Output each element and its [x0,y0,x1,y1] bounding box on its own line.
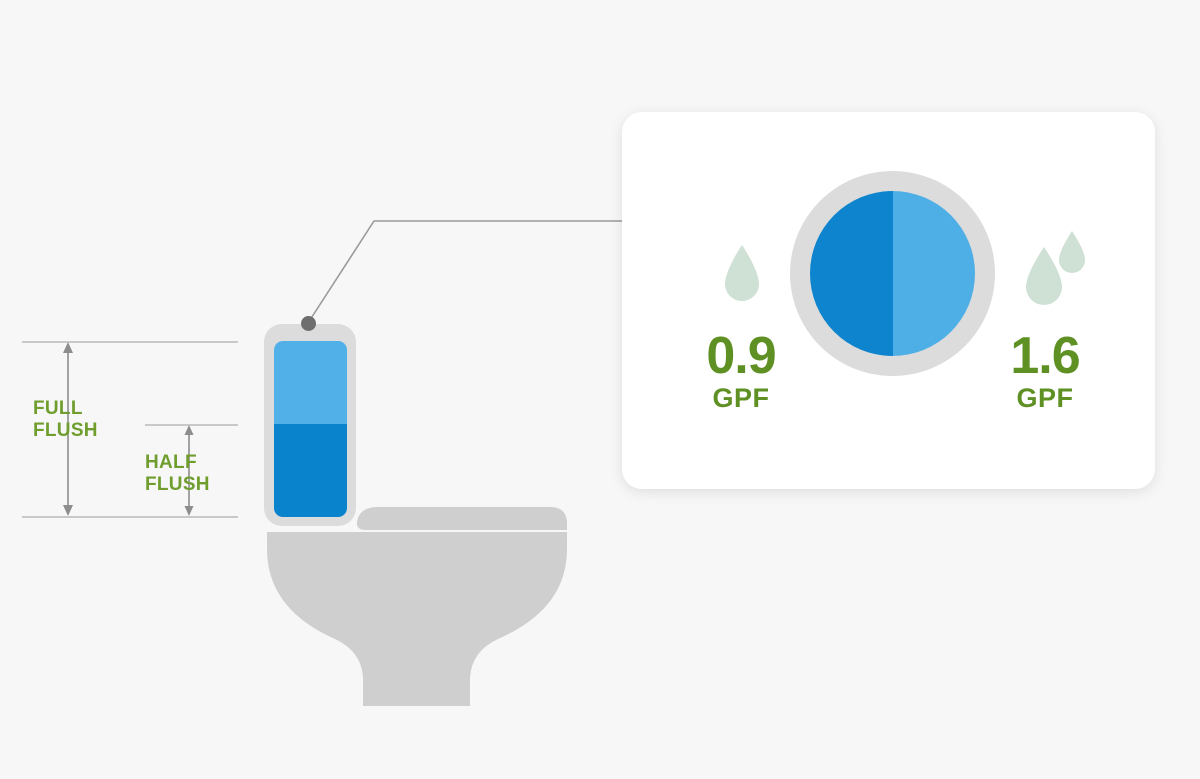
metric-full-flush: 1.6 GPF [980,330,1110,416]
half-flush-water-band [274,341,347,424]
gauge-circle [810,191,975,356]
toilet-lid [356,506,568,530]
full-flush-top-rule [22,341,238,343]
gauge-half-right [893,191,976,356]
callout-anchor-dot [301,316,316,331]
metric-half-flush: 0.9 GPF [676,330,806,416]
water-droplet-icon-small [1056,229,1088,275]
full-flush-water-band [274,424,347,517]
infographic-canvas: FULL FLUSH HALF FLUSH 0.9 GPF [0,0,1200,779]
water-droplet-icon [722,243,762,305]
metric-unit: GPF [676,382,806,416]
metric-value: 1.6 [980,330,1110,382]
toilet-bowl [266,531,568,707]
full-flush-bottom-rule [22,516,238,518]
gauge-half-left [810,191,893,356]
half-flush-label: HALF FLUSH [145,452,210,497]
tank-water-fill [274,341,347,517]
callout-leader-line [300,210,640,335]
metric-unit: GPF [980,382,1110,416]
full-flush-label: FULL FLUSH [33,398,98,443]
metric-value: 0.9 [676,330,806,382]
